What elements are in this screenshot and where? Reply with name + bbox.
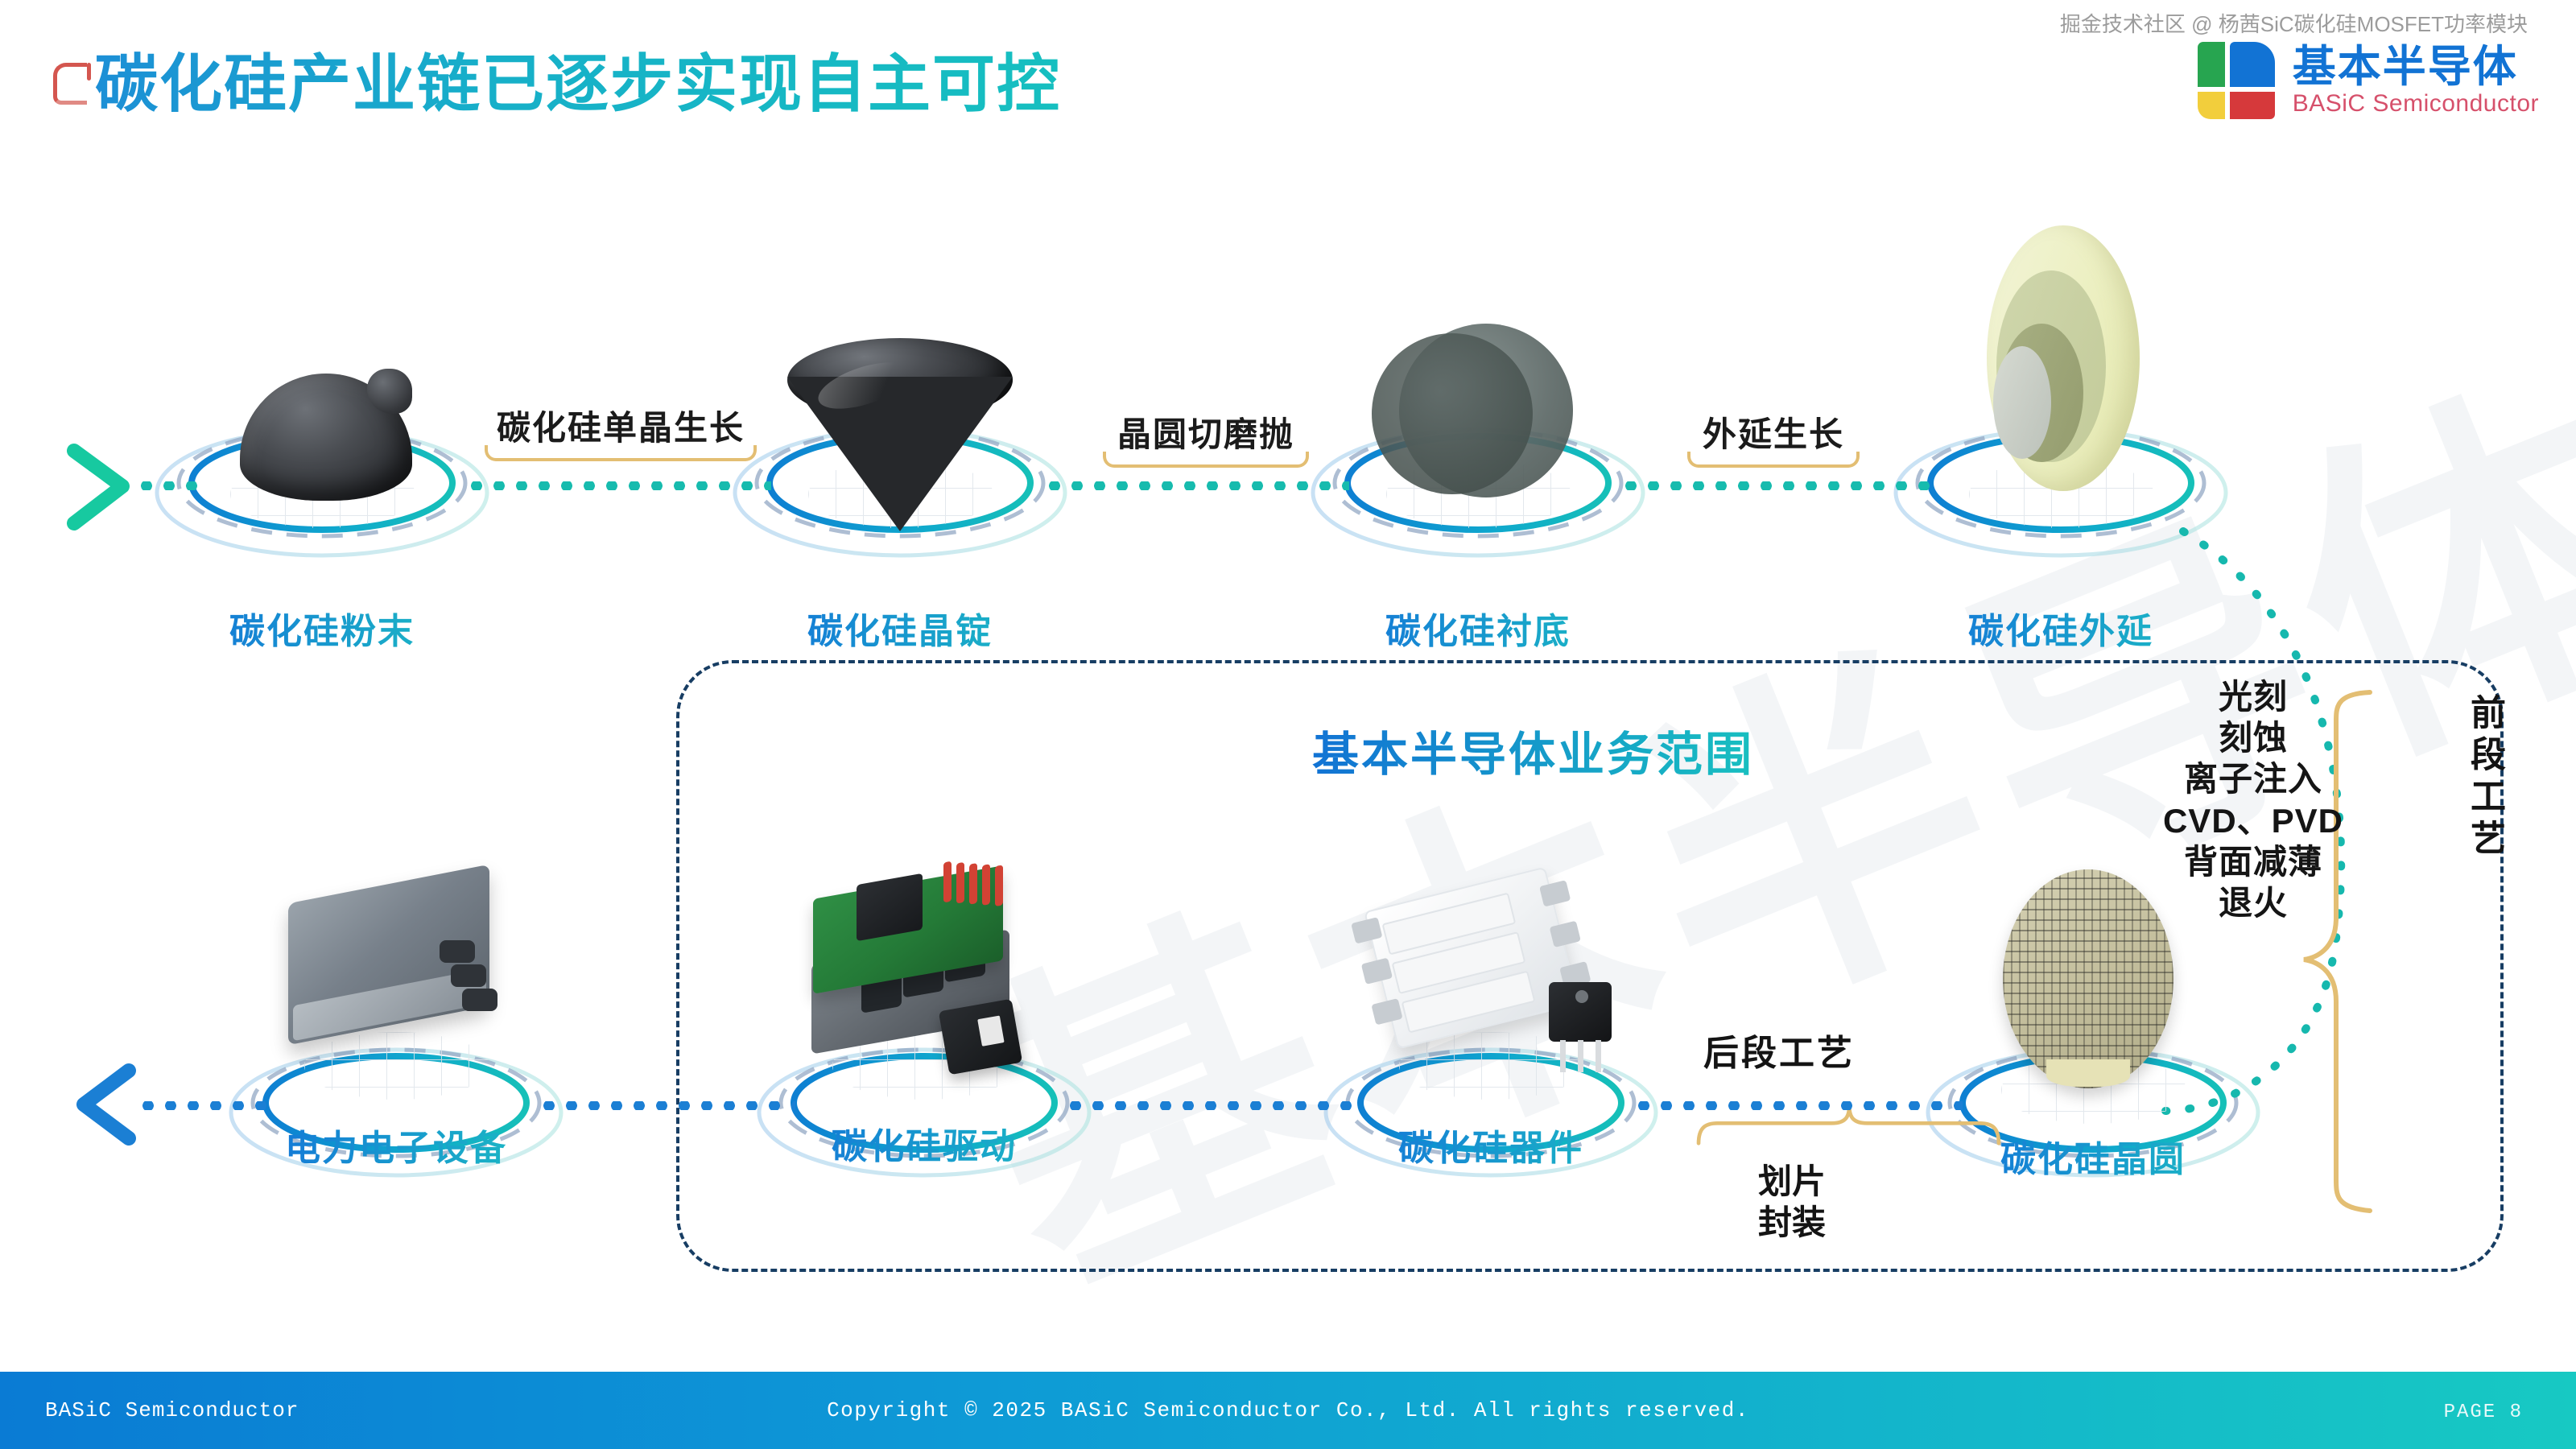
- front-process-steps: 光刻 刻蚀 离子注入 CVD、PVD 背面减薄 退火: [2120, 676, 2386, 923]
- logo-quadrant-red: [2230, 92, 2275, 119]
- front-process-group-label: 前段工艺: [2458, 694, 2510, 861]
- process-label-crystal-growth: 碳化硅单晶生长: [480, 396, 762, 461]
- node-sic-epitaxy[interactable]: 碳化硅外延: [1930, 225, 2191, 668]
- connector-wafer-to-device: [1633, 1101, 1963, 1110]
- front-process-step: 退火: [2120, 882, 2386, 923]
- title-corner-mark-icon: [53, 63, 87, 105]
- front-process-step: 背面减薄: [2120, 841, 2386, 882]
- node-sic-powder[interactable]: 碳化硅粉末: [192, 346, 452, 668]
- connector-start-to-powder: [135, 481, 198, 490]
- node-sic-substrate[interactable]: 碳化硅衬底: [1348, 322, 1608, 668]
- connector-substrate-to-epitaxy: [1620, 481, 1934, 490]
- front-process-step: CVD、PVD: [2120, 800, 2386, 841]
- slide-root: 基本半导体 碳化硅产业链已逐步实现自主可控 基本半导体 BASiC Semico…: [0, 0, 2576, 1449]
- process-label-back-end: 后段工艺: [1703, 1024, 1855, 1075]
- process-label-epitaxy-growth: 外延生长: [1682, 402, 1864, 468]
- node-sic-driver[interactable]: 碳化硅驱动: [794, 821, 1055, 1183]
- logo-quadrant-blue: [2230, 42, 2275, 87]
- node-sic-boule[interactable]: 碳化硅晶锭: [770, 322, 1030, 668]
- flow-end-chevron-icon: [84, 1071, 129, 1138]
- connector-powder-to-boule: [465, 481, 771, 490]
- node-label: 碳化硅衬底: [1348, 602, 1608, 654]
- node-label: 碳化硅器件: [1360, 1119, 1621, 1170]
- sic-driver-discrete-chip-icon: [939, 999, 1022, 1075]
- logo-quadrant-green: [2198, 42, 2225, 87]
- node-label: 碳化硅外延: [1930, 602, 2191, 654]
- company-logo: 基本半导体 BASiC Semiconductor: [2198, 42, 2539, 119]
- footer-copyright: Copyright © 2025 BASiC Semiconductor Co.…: [827, 1398, 1749, 1422]
- node-grid-floor: [304, 1032, 489, 1100]
- sic-epitaxy-core-icon: [1993, 346, 2051, 459]
- node-sic-device[interactable]: 碳化硅器件: [1360, 829, 1621, 1183]
- sic-driver-pin-header-icon: [943, 851, 1011, 923]
- node-label: 碳化硅晶圆: [1963, 1130, 2223, 1182]
- logo-chinese-name: 基本半导体: [2293, 45, 2539, 89]
- node-label: 电力电子设备: [266, 1119, 526, 1170]
- logo-quadrant-mark-icon: [2198, 42, 2275, 119]
- connector-boule-to-substrate: [1043, 481, 1349, 490]
- flow-start-chevron-icon: [74, 451, 122, 523]
- node-label: 碳化硅驱动: [794, 1117, 1055, 1169]
- back-process-step: 封装: [1703, 1202, 1880, 1243]
- node-label: 碳化硅晶锭: [770, 602, 1030, 654]
- logo-quadrant-yellow: [2198, 92, 2225, 119]
- business-scope-title: 基本半导体业务范围: [1312, 716, 1754, 784]
- logo-english-name: BASiC Semiconductor: [2293, 92, 2539, 116]
- power-electronics-connectors-icon: [440, 940, 517, 1018]
- node-label: 碳化硅粉末: [192, 602, 452, 654]
- sic-driver-transformer-icon: [857, 873, 923, 941]
- back-process-step: 划片: [1703, 1161, 1880, 1202]
- front-process-step: 离子注入: [2120, 758, 2386, 799]
- sic-discrete-to247-icon: [1549, 982, 1612, 1066]
- connector-equipment-to-end: [137, 1101, 270, 1110]
- connector-device-to-driver: [1064, 1101, 1362, 1110]
- front-process-step: 刻蚀: [2120, 717, 2386, 758]
- process-label-wafering: 晶圆切磨抛: [1098, 402, 1314, 468]
- sic-wafer-tape-icon: [2046, 1059, 2130, 1087]
- footer-brand: BASiC Semiconductor: [45, 1398, 299, 1422]
- footer-page-number: PAGE 8: [2444, 1402, 2523, 1423]
- back-process-steps: 划片 封装: [1703, 1161, 1880, 1243]
- footer-watermark: 掘金技术社区 @ 杨茜SiC碳化硅MOSFET功率模块: [2060, 8, 2528, 38]
- front-process-step: 光刻: [2120, 676, 2386, 717]
- connector-driver-to-equipment: [538, 1101, 795, 1110]
- slide-footer: BASiC Semiconductor Copyright © 2025 BAS…: [0, 1372, 2576, 1449]
- sic-substrate-second-icon: [1372, 333, 1533, 494]
- node-power-electronics[interactable]: 电力电子设备: [266, 845, 526, 1183]
- page-title: 碳化硅产业链已逐步实现自主可控: [95, 34, 1061, 124]
